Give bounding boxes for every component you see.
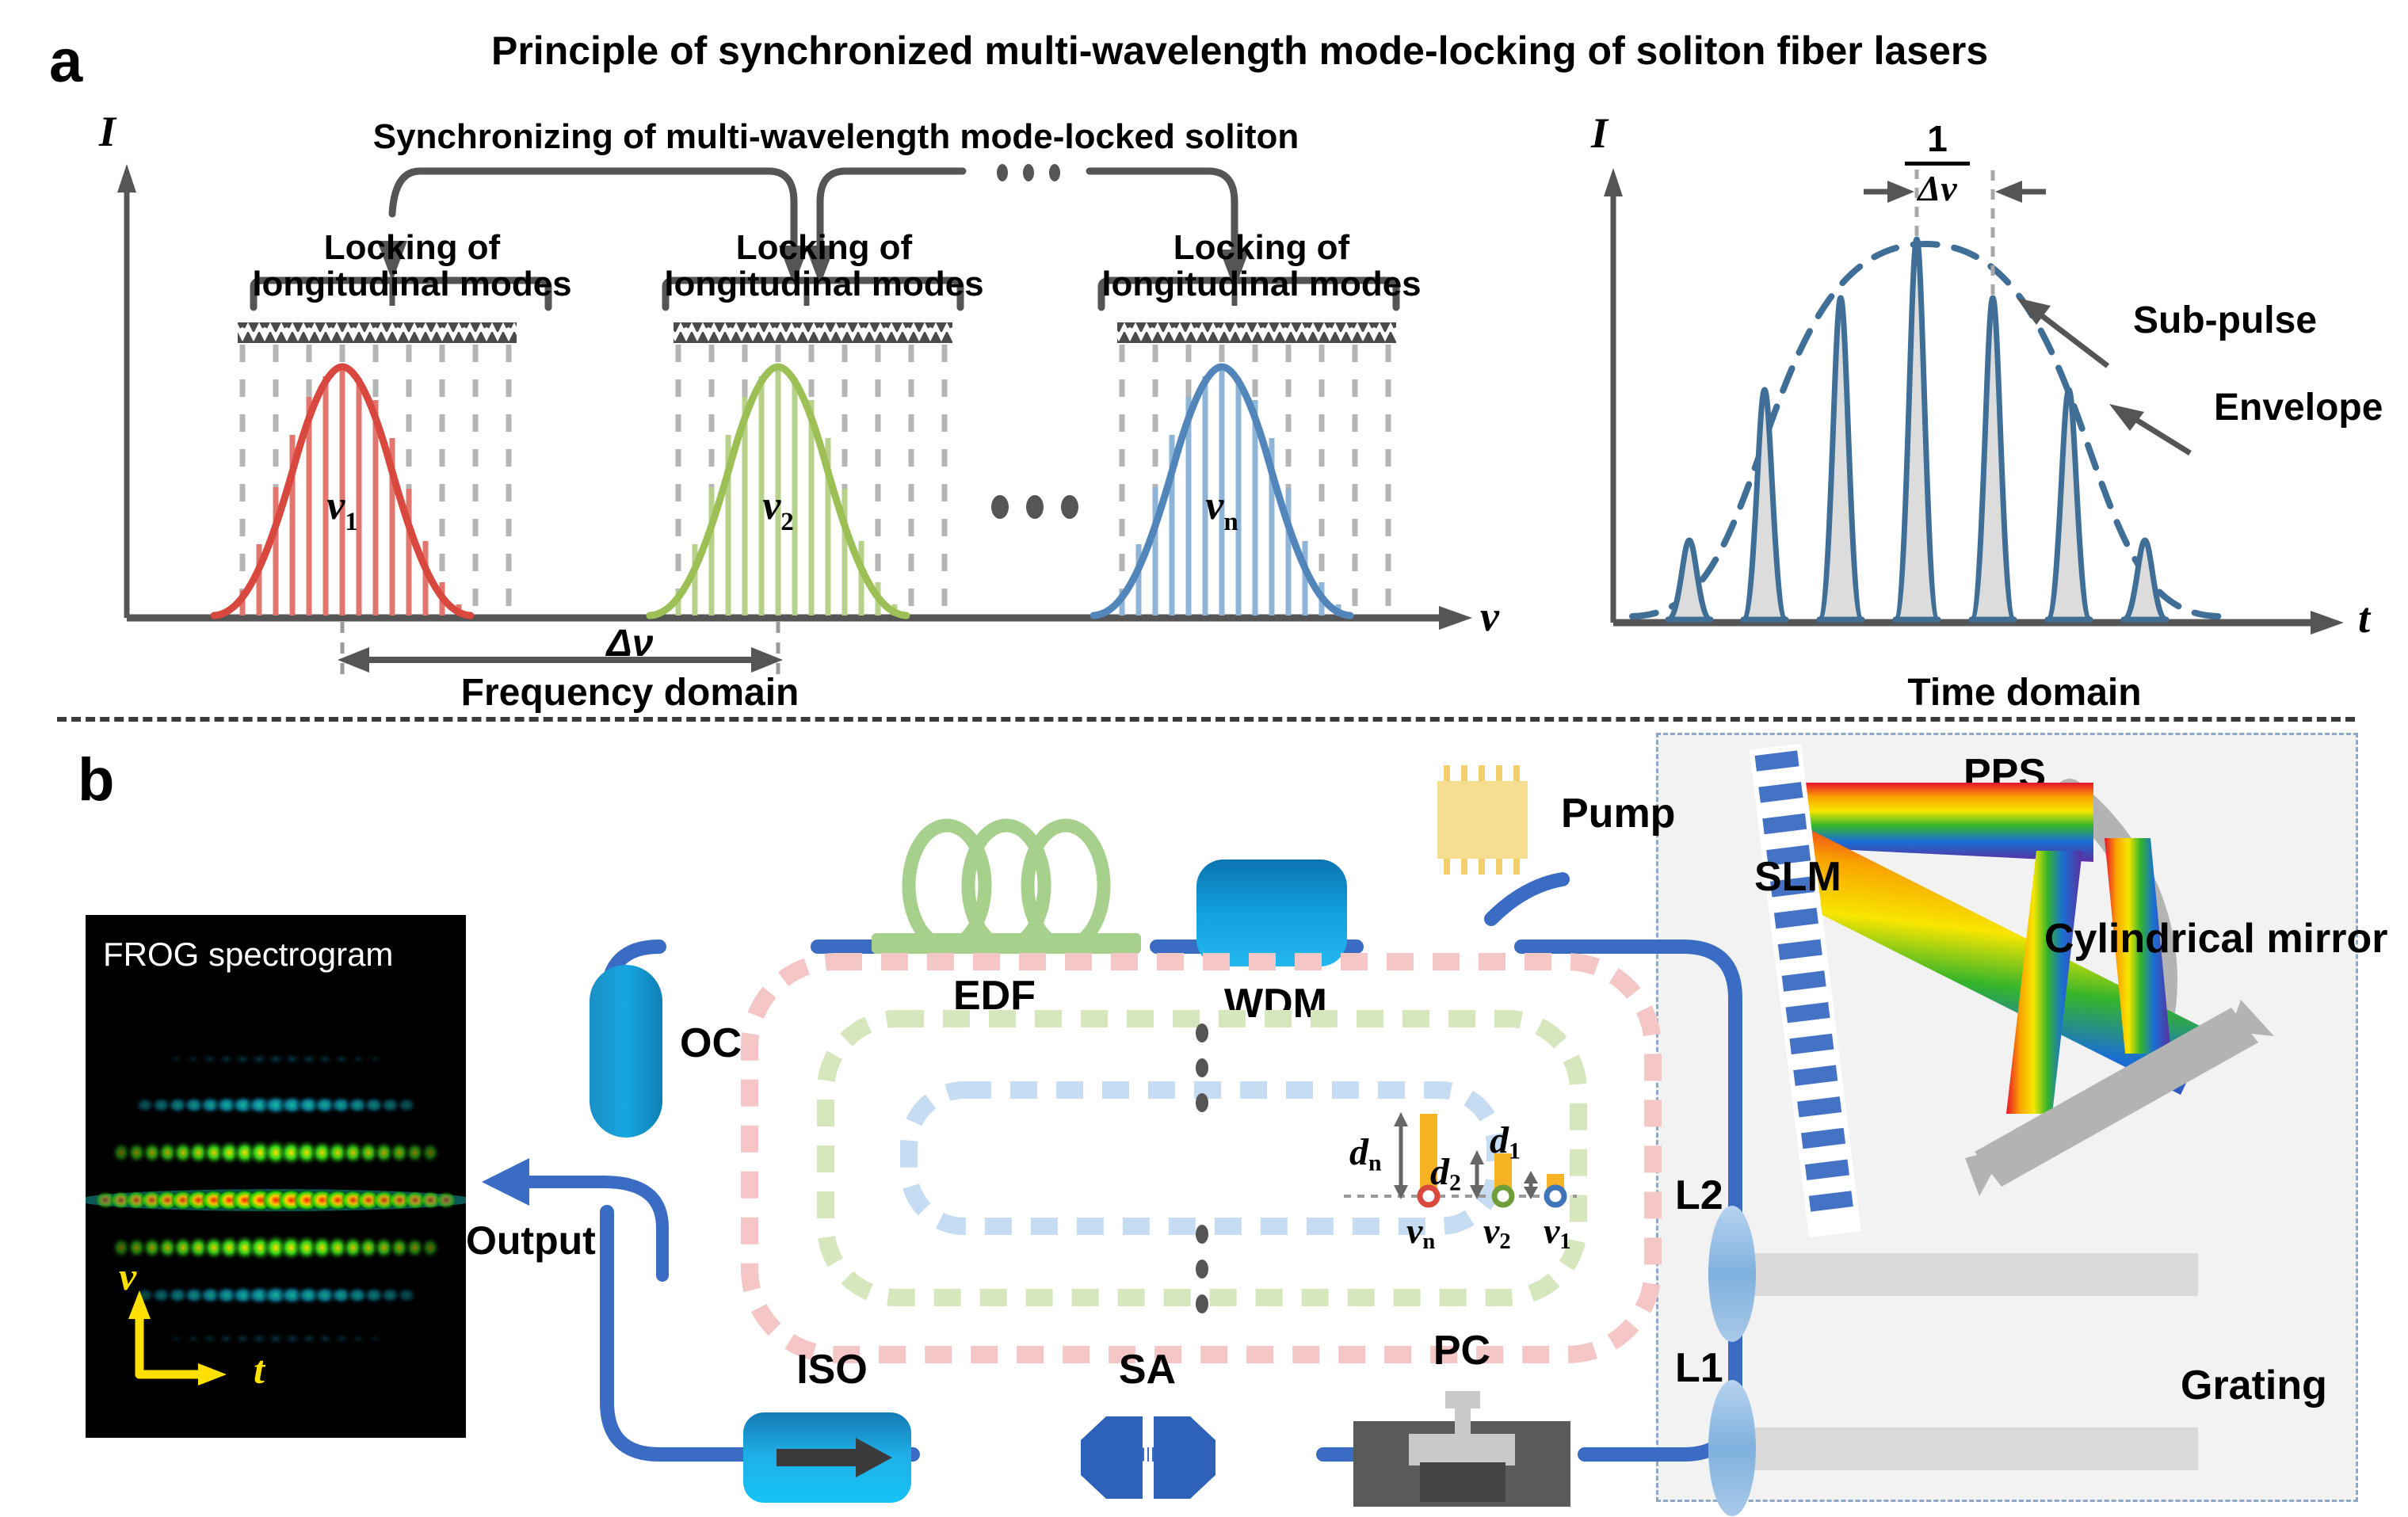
pc-label: PC: [1395, 1329, 1529, 1373]
freq-y-axis-label: I: [99, 109, 116, 154]
frog-spectrogram: FROG spectrogram ν t: [86, 915, 466, 1438]
time-y-axis-label: I: [1591, 111, 1608, 156]
svg-text:νn: νn: [1205, 483, 1238, 536]
panel-divider: [57, 717, 2355, 722]
inverse-delta-nu-label: 1 Δν: [1886, 117, 1989, 209]
edf-component: [856, 792, 1157, 974]
freq-marker-label-nu-2: ν2: [1483, 1212, 1511, 1254]
frequency-domain-label: Frequency domain: [444, 673, 816, 713]
pc-component: [1347, 1389, 1577, 1512]
grating-label: Grating: [2181, 1364, 2327, 1408]
panel-b-tag: b: [78, 749, 114, 812]
frog-y-axis-label: ν: [119, 1256, 136, 1298]
loop-ellipsis-top: [1196, 1023, 1208, 1112]
delay-label-d2: d2: [1430, 1153, 1461, 1195]
freq-x-axis-label: ν: [1480, 594, 1499, 639]
figure-title: Principle of synchronized multi-waveleng…: [491, 30, 1918, 72]
time-x-axis-label: t: [2358, 596, 2370, 641]
freq-marker-label-nu-1: ν1: [1544, 1212, 1571, 1254]
pump-label: Pump: [1561, 792, 1675, 836]
period-fraction-bar: [1905, 162, 1970, 166]
iso-component: [737, 1406, 919, 1509]
delta-nu-label: Δν: [519, 624, 741, 664]
frog-x-axis-label: t: [254, 1349, 265, 1391]
envelope-annotation: Envelope: [2214, 388, 2383, 428]
freq-marker-label-nu-n: νn: [1406, 1212, 1435, 1254]
subpulse-annotation: Sub-pulse: [2133, 301, 2317, 341]
time-domain-label: Time domain: [1838, 673, 2211, 713]
period-denominator: Δν: [1886, 167, 1989, 209]
l2-label: L2: [1675, 1174, 1723, 1218]
marker-nu-1: [1547, 1187, 1564, 1205]
svg-text:ν2: ν2: [762, 483, 794, 536]
delay-label-dn: dn: [1349, 1133, 1382, 1176]
oc-component: [583, 960, 670, 1142]
oc-label: OC: [680, 1022, 742, 1065]
iso-label: ISO: [753, 1348, 911, 1392]
period-numerator: 1: [1886, 117, 1989, 160]
marker-nu-2: [1494, 1187, 1512, 1205]
loop-ellipsis-bottom: [1196, 1225, 1208, 1313]
frequency-domain-plot: ν1 ν2: [87, 147, 1505, 654]
delay-label-d1: d1: [1490, 1121, 1521, 1164]
l1-label: L1: [1675, 1347, 1723, 1390]
svg-text:ν1: ν1: [326, 483, 358, 536]
sa-component: [1076, 1410, 1220, 1505]
cylindrical-mirror-label: Cylindrical mirror: [2044, 917, 2387, 961]
panel-a-tag: a: [49, 30, 82, 93]
pump-component: [1418, 760, 1561, 879]
slm-label: SLM: [1754, 856, 1841, 899]
sa-label: SA: [1084, 1348, 1211, 1392]
